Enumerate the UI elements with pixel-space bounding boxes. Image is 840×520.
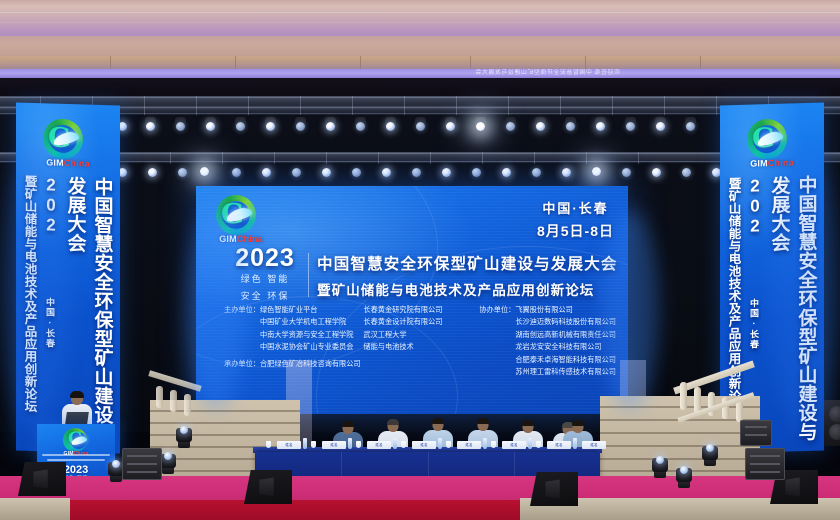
stone-seam: [470, 56, 471, 69]
equipment-rack: [122, 448, 162, 480]
gim-logo-g-icon: G: [221, 199, 244, 230]
cohost-label: 协办单位：: [479, 304, 515, 378]
screen-title-sub: 暨矿山储能与电池技术及产品应用创新论坛: [317, 279, 618, 299]
nameplate: 姓名: [367, 441, 391, 449]
cohost-item: 湖南创远高新机械有限责任公司: [515, 329, 616, 341]
gim-logo-swoosh-icon: [225, 206, 253, 224]
cohost-list: 飞翼股份有限公司 长沙迪迈数码科技股份有限公司 湖南创远高新机械有限责任公司 龙…: [515, 304, 616, 378]
host-item: 武汉工程大学: [363, 329, 442, 341]
stone-seam: [585, 56, 586, 69]
screen-title-row: 2023 绿色 智能 安全 环保 中国智慧安全环保型矿山建设与发展大会 暨矿山储…: [226, 246, 616, 304]
screen-city: 中国·长春: [537, 198, 614, 217]
gim-logo-wordmark: GIMChina: [210, 234, 272, 244]
host-col2: 长春黄金研究院有限公司 长春黄金设计院有限公司 武汉工程大学 储能与电池技术: [353, 304, 442, 354]
nameplate: 姓名: [547, 441, 571, 449]
host-col1: 绿色智能矿业平台 中国矿业大学机电工程学院 中南大学资源与安全工程学院 中国水泥…: [260, 304, 353, 354]
nameplate: 姓名: [457, 441, 481, 449]
nameplate: 姓名: [322, 441, 346, 449]
stone-seam: [110, 56, 111, 69]
banner-left-location: 中国·长春: [44, 297, 57, 357]
cohost-item: 龙岩龙安安全科技有限公司: [515, 341, 616, 353]
podium-gim-logo: G GIMChina: [59, 428, 93, 454]
moving-head-light: [160, 448, 176, 474]
nameplate: 姓名: [412, 441, 436, 449]
gim-logo-wordmark: GIMChina: [741, 157, 803, 169]
host-item: 中南大学资源与安全工程学院: [260, 329, 353, 341]
equipment-rack: [740, 420, 772, 446]
organizer-label: 承办单位：: [224, 358, 260, 370]
stone-seam: [360, 56, 361, 69]
ceiling-molding-line: [0, 22, 840, 23]
screen-slogan-line2: 安全 环保: [226, 291, 304, 305]
screen-dates: 8月5日-8日: [537, 221, 614, 241]
cohost-item: 合肥泰禾卓海智能科技有限公司: [515, 354, 616, 366]
stone-fascia-band: [0, 56, 840, 69]
conference-stage-photo: 欢迎莅临 中国智慧安全环保型矿山建设与发展大会: [0, 0, 840, 520]
moving-head-light: [652, 452, 668, 478]
moving-head-light: [176, 422, 192, 448]
banner-left-year: 2023: [41, 175, 61, 236]
moving-head-light: [702, 440, 718, 466]
line-array-speaker: [824, 400, 840, 446]
podium-title-lines: [42, 454, 110, 463]
lighting-truss-assembly: [0, 96, 840, 196]
nameplate: 姓名: [502, 441, 526, 449]
banner-right-title-main: 中国智慧安全环保型矿山建设与发展大会: [766, 175, 820, 453]
equipment-rack: [745, 448, 785, 480]
screen-title-main: 中国智慧安全环保型矿山建设与发展大会: [317, 252, 618, 274]
ceiling-led-strip-text: 欢迎莅临 中国智慧安全环保型矿山建设与发展大会: [400, 69, 620, 78]
ceiling-band: [0, 36, 840, 56]
truss-beam-lower: [0, 152, 840, 163]
host-sponsor-group: 主办单位： 绿色智能矿业平台 中国矿业大学机电工程学院 中南大学资源与安全工程学…: [224, 304, 442, 354]
host-label: 主办单位：: [224, 304, 260, 354]
banner-left-title-sub: 暨矿山储能与电池技术及产品应用创新论坛: [21, 175, 40, 452]
host-item: 长春黄金研究院有限公司: [363, 304, 442, 316]
screen-gim-logo: G GIMChina: [210, 194, 272, 246]
stage-monitor: [530, 472, 578, 506]
truss-beam-upper-lower-chord: [0, 106, 840, 115]
banner-right-logo: G GIMChina: [741, 117, 803, 171]
ceiling: [0, 0, 840, 36]
screen-title-block: 中国智慧安全环保型矿山建设与发展大会 暨矿山储能与电池技术及产品应用创新论坛: [317, 252, 618, 299]
screen-location-block: 中国·长春 8月5日-8日: [537, 198, 614, 241]
podium-laptop: [65, 412, 89, 424]
ceiling-molding-line: [0, 12, 840, 13]
stone-seam: [235, 56, 236, 69]
title-divider: [308, 253, 309, 297]
screen-year: 2023: [226, 246, 304, 271]
host-item: 储能与电池技术: [363, 341, 442, 353]
banner-right-location: 中国·长春: [748, 298, 761, 358]
host-item: 长春黄金设计院有限公司: [363, 316, 442, 328]
host-item: 中国水泥协会矿山专业委员会: [260, 341, 353, 353]
stage-monitor: [18, 462, 66, 496]
screen-slogan-line1: 绿色 智能: [226, 274, 304, 288]
main-led-screen: G GIMChina 中国·长春 8月5日-8日 2023 绿色 智能 安全 环…: [196, 186, 628, 414]
stone-seam: [700, 56, 701, 69]
nameplate: 姓名: [582, 441, 606, 449]
cohost-item: 长沙迪迈数码科技股份有限公司: [515, 316, 616, 328]
cohost-item: 苏州理工雷科传感技术有限公司: [515, 366, 616, 378]
banner-right-year: 2023: [745, 176, 765, 237]
moving-head-light: [676, 462, 692, 488]
front-step-left: [0, 498, 70, 520]
cohost-item: 飞翼股份有限公司: [515, 304, 616, 316]
stage-monitor: [244, 470, 292, 504]
host-item: 中国矿业大学机电工程学院: [260, 316, 353, 328]
nameplate: 姓名: [277, 441, 301, 449]
screen-cohost-sponsors: 协办单位： 飞翼股份有限公司 长沙迪迈数码科技股份有限公司 湖南创远高新机械有限…: [479, 304, 616, 378]
gim-logo-wordmark: GIMChina: [37, 157, 99, 169]
banner-left-logo: G GIMChina: [37, 117, 99, 171]
screen-host-sponsors: 主办单位： 绿色智能矿业平台 中国矿业大学机电工程学院 中南大学资源与安全工程学…: [224, 304, 614, 354]
screen-year-block: 2023 绿色 智能 安全 环保: [226, 246, 304, 304]
host-item: 绿色智能矿业平台: [260, 304, 353, 316]
